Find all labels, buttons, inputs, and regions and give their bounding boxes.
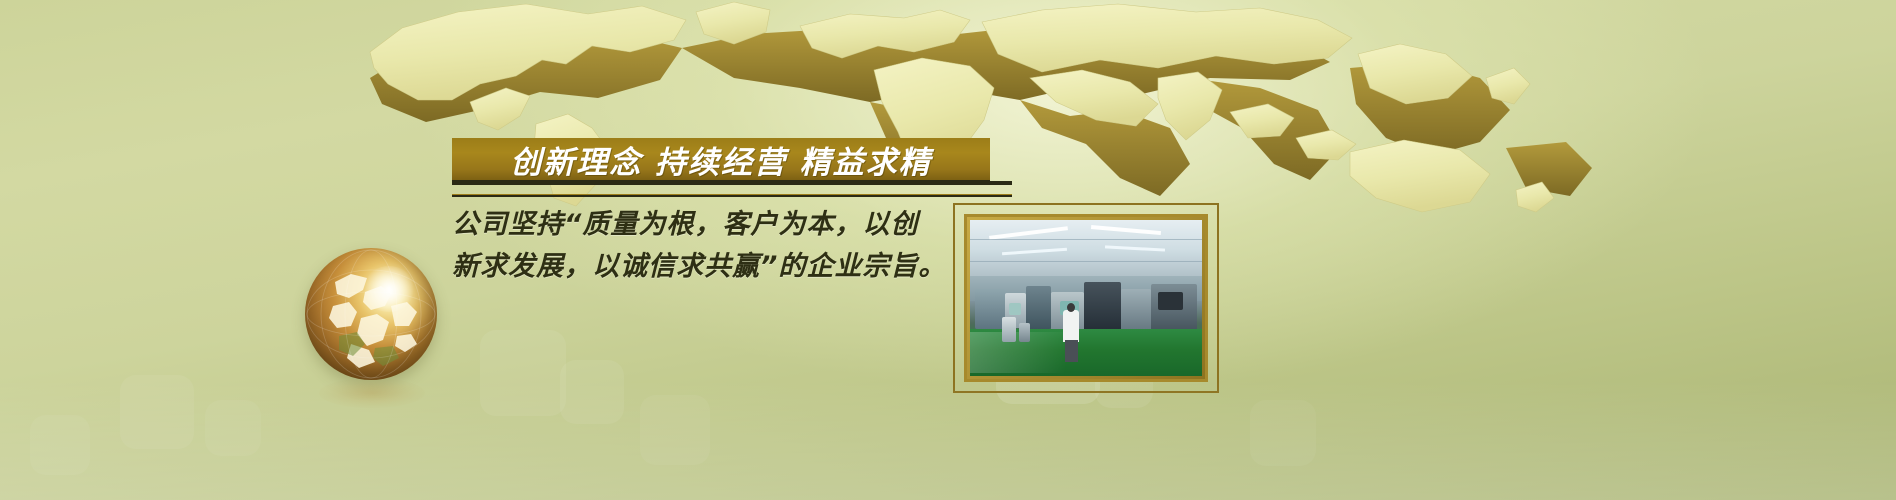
rounded-square-watermark (205, 400, 261, 456)
photo-machine (975, 289, 1005, 330)
photo-ceiling-beam (970, 239, 1202, 240)
rounded-square-watermark (560, 360, 624, 424)
photo-machine (1084, 282, 1121, 332)
rounded-square-watermark (30, 415, 90, 475)
photo-ceiling (970, 220, 1202, 279)
photo-frame-inner (964, 214, 1208, 382)
photo-foreground-unit (1019, 323, 1031, 342)
photo-ceiling-beam (970, 261, 1202, 262)
company-banner: 创新理念 持续经营 精益求精 公司坚持“质量为根，客户为本，以创 新求发展，以诚… (0, 0, 1896, 500)
globe-reflection (319, 378, 425, 408)
rounded-square-watermark (1250, 400, 1316, 466)
globe-sphere (305, 248, 437, 380)
rounded-square-watermark (480, 330, 566, 416)
photo-machine-accent (1009, 303, 1021, 315)
floor-sheen (0, 380, 1896, 500)
world-map-3d (330, 0, 1620, 222)
subtitle-line-2: 新求发展，以诚信求共赢”的企业宗旨。 (452, 246, 972, 288)
rounded-square-watermark (640, 395, 710, 465)
subtitle-block: 公司坚持“质量为根，客户为本，以创 新求发展，以诚信求共赢”的企业宗旨。 (452, 204, 972, 288)
photo-frame-outer (953, 203, 1219, 393)
headline-rule-dark (452, 181, 1012, 185)
headline-bar: 创新理念 持续经营 精益求精 (452, 138, 990, 180)
photo-floor-sheen (970, 332, 1109, 373)
rounded-square-watermark (120, 375, 194, 449)
photo-worker-body (1063, 310, 1079, 341)
photo-machine (1121, 289, 1151, 333)
photo-machine (1026, 286, 1052, 330)
photo-foreground-unit (1002, 317, 1016, 342)
photo-machine-panel (1158, 292, 1184, 311)
photo-worker-legs (1065, 340, 1078, 362)
headline-rule-gold (452, 194, 1012, 197)
factory-workshop-photo (970, 220, 1202, 376)
golden-globe (305, 248, 447, 408)
headline-text: 创新理念 持续经营 精益求精 (510, 137, 932, 182)
subtitle-line-1: 公司坚持“质量为根，客户为本，以创 (452, 204, 972, 246)
